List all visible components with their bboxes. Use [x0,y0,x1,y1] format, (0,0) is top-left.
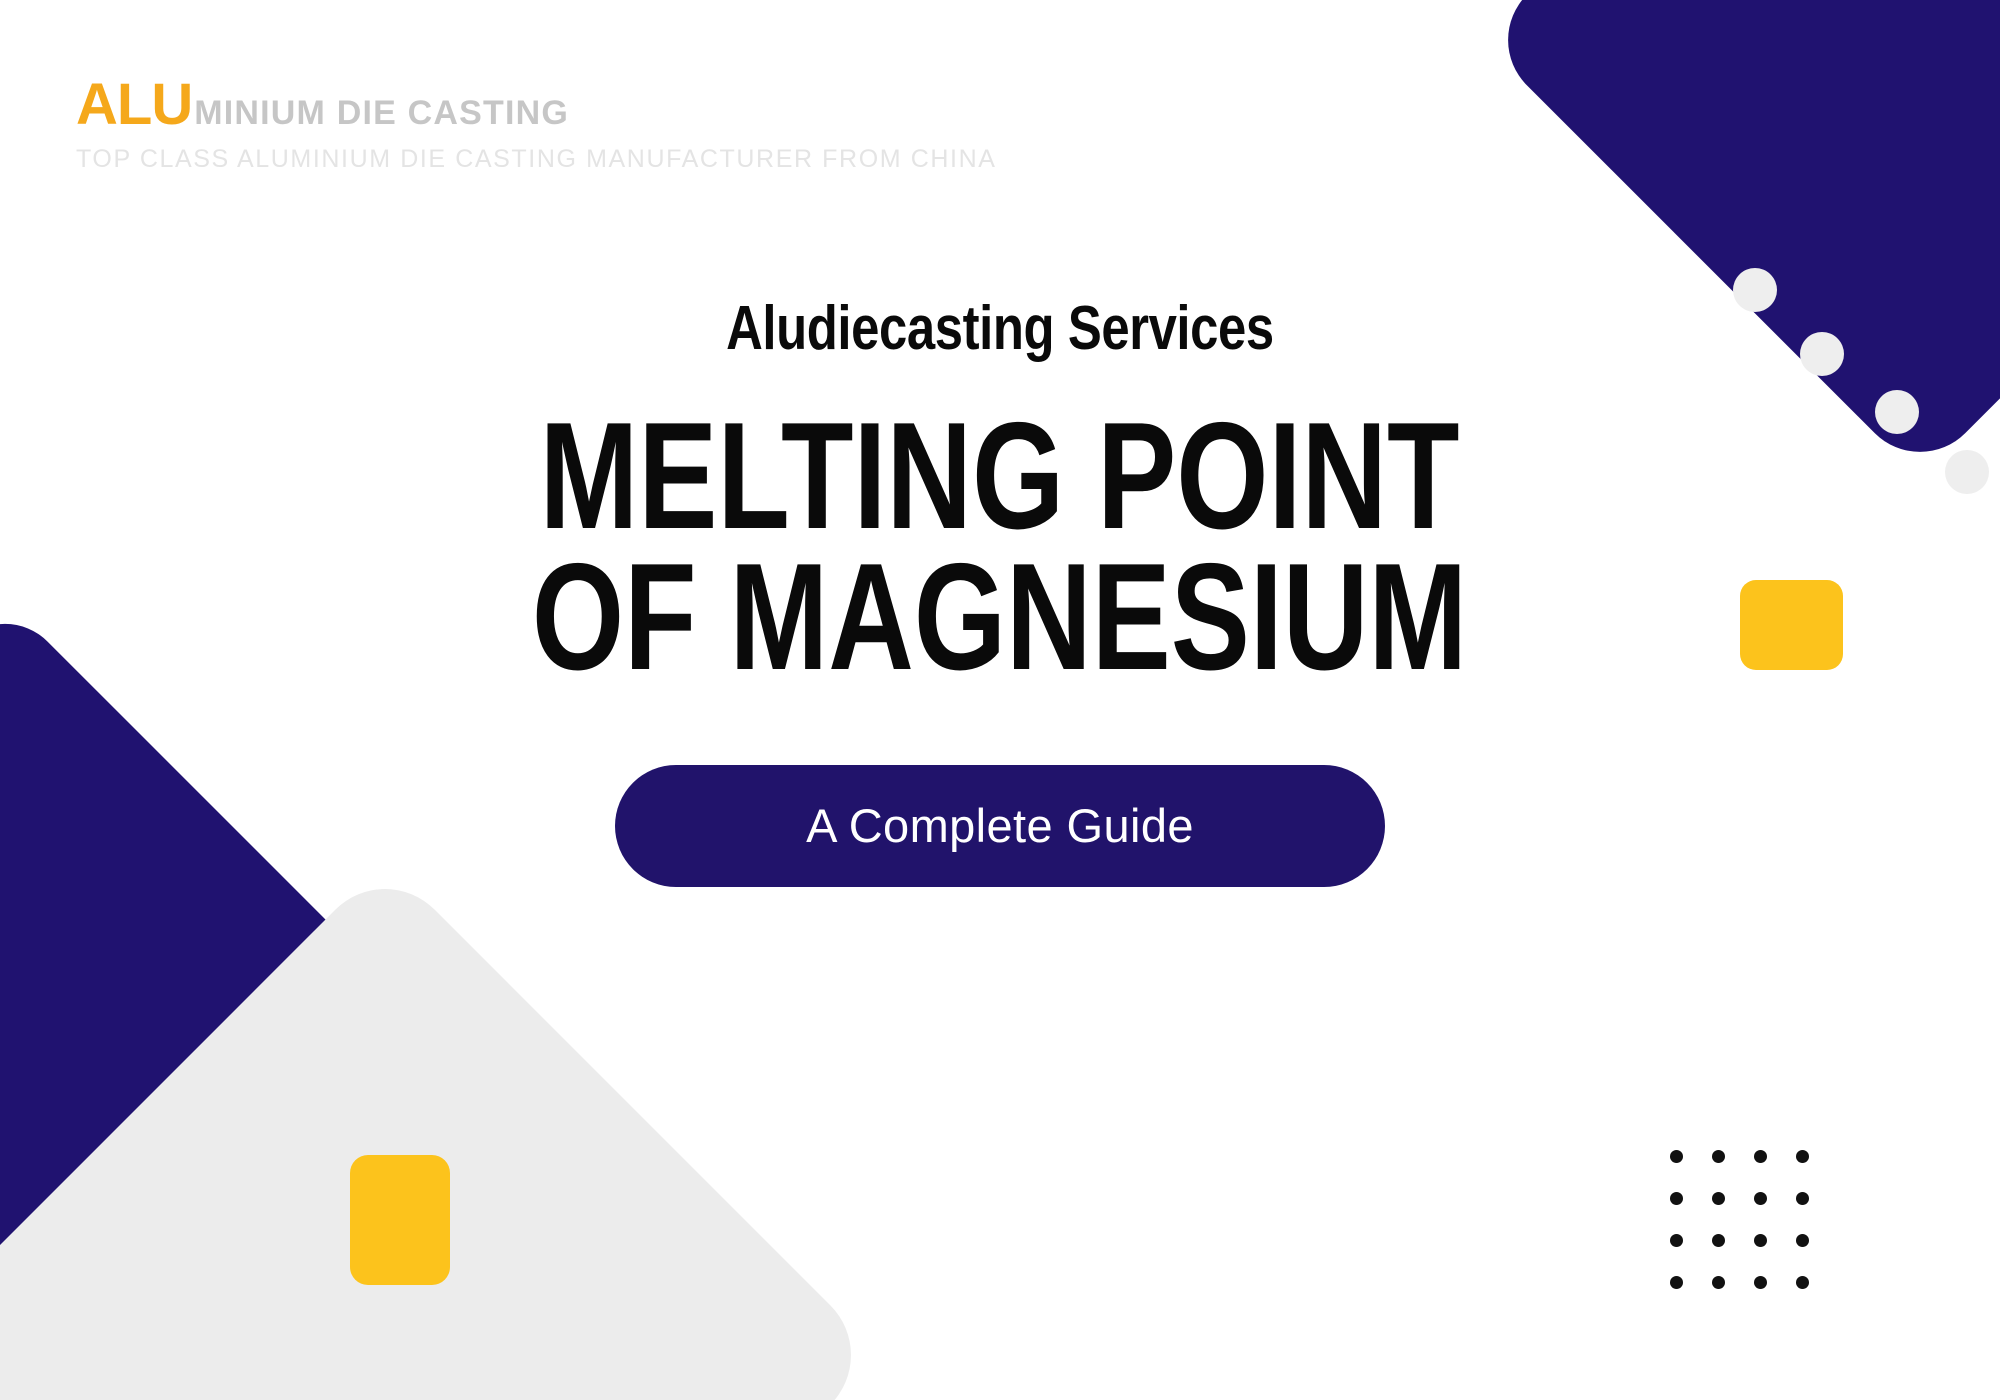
hero-content: Aludiecasting Services MELTING POINT OF … [0,0,2000,1400]
page-title: MELTING POINT OF MAGNESIUM [400,406,1599,689]
page-title-line-2: OF MAGNESIUM [532,547,1467,688]
hero-eyebrow: Aludiecasting Services [726,298,1274,360]
poster-canvas: ALU MINIUM DIE CASTING TOP CLASS ALUMINI… [0,0,2000,1400]
complete-guide-button[interactable]: A Complete Guide [615,765,1385,887]
complete-guide-button-label: A Complete Guide [806,798,1194,853]
page-title-line-1: MELTING POINT [532,406,1467,547]
